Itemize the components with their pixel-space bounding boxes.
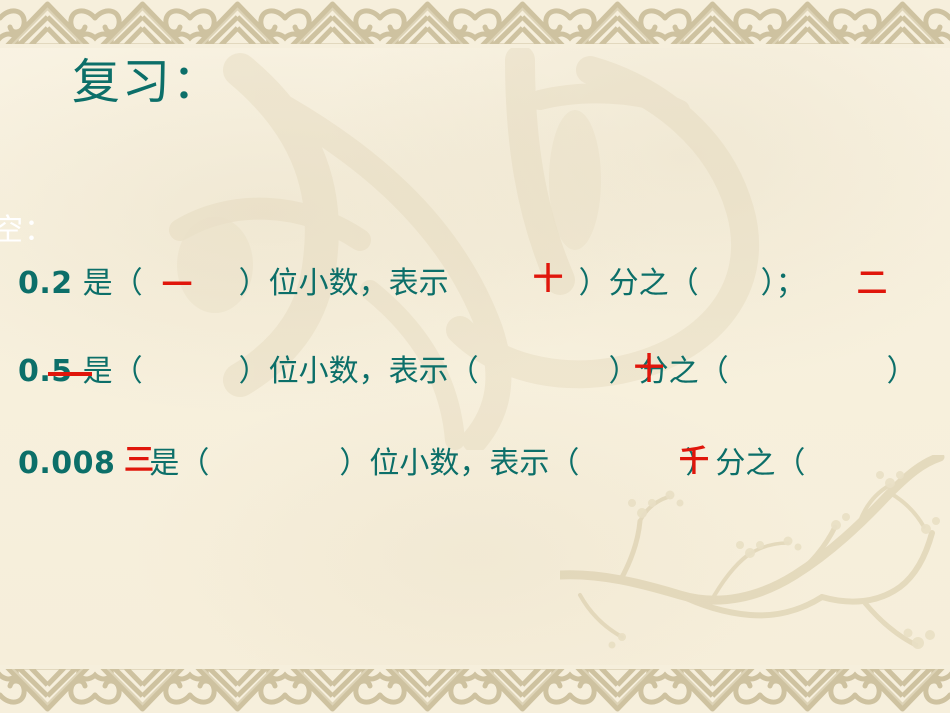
question-1-text-1: 是（ [83, 266, 143, 301]
answer-line2-place: 十 [634, 355, 664, 385]
question-1-text-4: ）； [761, 266, 806, 301]
slide: 复习： 填空： 、0.2是（）位小数，表示）分之（）； 、0.5是（）位小数，表… [0, 0, 950, 713]
question-2-bullet: 、 [0, 354, 8, 389]
question-3-text-2: ）位小数，表示（ [339, 446, 579, 481]
page-title: 复习： [72, 58, 222, 106]
question-3-text-1: 是（ [149, 446, 209, 481]
slide-content: 复习： 填空： 、0.2是（）位小数，表示）分之（）； 、0.5是（）位小数，表… [0, 0, 950, 713]
answer-line1-numerator: 二 [857, 269, 887, 299]
question-2-value: 0.5 [18, 354, 73, 389]
answer-line3-place: 千 [679, 447, 709, 477]
fill-in-the-blank-heading: 填空： [0, 216, 55, 246]
answer-line1-digits: 一 [162, 271, 192, 301]
question-2-text-1: 是（ [83, 354, 143, 389]
question-1-text-3: ）分之（ [579, 266, 699, 301]
question-2-text-4: ） [887, 354, 917, 389]
answer-line1-place: 十 [533, 265, 563, 295]
question-line-2: 、0.5是（）位小数，表示（）分之（） [0, 357, 950, 387]
question-2-text-2: ）位小数，表示（ [239, 354, 479, 389]
question-line-1: 、0.2是（）位小数，表示）分之（）； [0, 269, 950, 299]
question-2-text-3: ）分之（ [609, 354, 729, 389]
question-1-bullet: 、 [0, 266, 8, 301]
question-1-text-2: ）位小数，表示 [239, 266, 449, 301]
question-3-bullet: 、 [0, 446, 8, 481]
question-3-value: 0.008 [18, 446, 115, 481]
question-1-value: 0.2 [18, 266, 73, 301]
answer-line3-digits: 三 [124, 446, 154, 476]
